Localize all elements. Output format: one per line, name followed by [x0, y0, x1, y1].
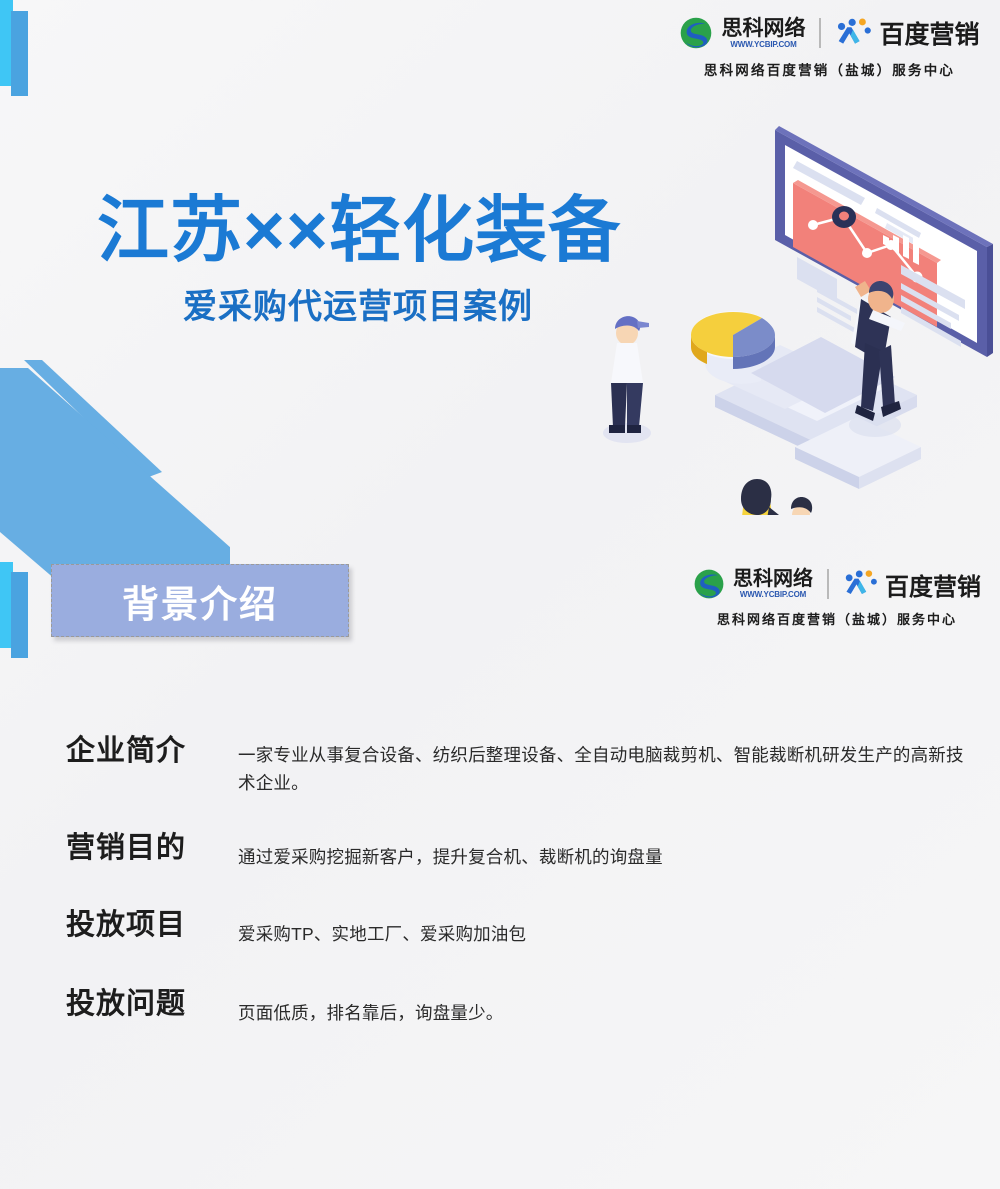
decor-bar-blue-top [11, 11, 28, 96]
baidu-brand-name: 百度营销 [885, 567, 981, 602]
seated-man-blue-figure [789, 497, 831, 515]
sike-brand-url: WWW.YCBIP.COM [733, 591, 813, 599]
info-row-text: 一家专业从事复合设备、纺织后整理设备、全自动电脑裁剪机、智能裁断机研发生产的高新… [238, 735, 981, 798]
isometric-data-dashboard-illustration [565, 95, 1000, 515]
section-header-label: 背景介绍 [122, 574, 278, 628]
sike-brand-name: 思科网络 [721, 18, 805, 39]
seated-woman-yellow-figure [737, 479, 779, 515]
baidu-paw-icon [843, 570, 877, 598]
baidu-brand-name: 百度营销 [879, 15, 979, 51]
info-row-label: 企业简介 [66, 735, 238, 767]
page-title: 江苏××轻化装备 [97, 195, 621, 267]
mid-logo-row: 思科网络 WWW.YCBIP.COM 百度营销 [682, 562, 992, 606]
sike-globe-s-icon [679, 16, 713, 50]
header-logo-subtitle: 思科网络百度营销（盐城）服务中心 [667, 59, 992, 79]
header-logo-block: 思科网络 WWW.YCBIP.COM 百度营销 思科网络百度营销（盐城）服务中心 [667, 10, 992, 79]
info-row: 营销目的 通过爱采购挖掘新客户，提升复合机、裁断机的询盘量 [66, 832, 981, 871]
standing-person-cap-figure [603, 316, 651, 443]
mid-logo-subtitle: 思科网络百度营销（盐城）服务中心 [682, 609, 992, 628]
sike-wordmark: 思科网络 WWW.YCBIP.COM [721, 18, 805, 49]
info-row: 企业简介 一家专业从事复合设备、纺织后整理设备、全自动电脑裁剪机、智能裁断机研发… [66, 735, 981, 798]
info-row-text: 通过爱采购挖掘新客户，提升复合机、裁断机的询盘量 [238, 832, 663, 871]
page-subtitle: 爱采购代运营项目案例 [183, 290, 533, 324]
info-row-label: 投放项目 [66, 909, 238, 941]
info-row-text: 爱采购TP、实地工厂、爱采购加油包 [238, 909, 526, 948]
info-row-label: 投放问题 [66, 988, 238, 1020]
info-rows-list: 企业简介 一家专业从事复合设备、纺织后整理设备、全自动电脑裁剪机、智能裁断机研发… [66, 735, 981, 1062]
logo-divider-icon [819, 18, 821, 48]
sike-brand-url: WWW.YCBIP.COM [721, 41, 805, 49]
poster-page: 思科网络 WWW.YCBIP.COM 百度营销 思科网络百度营销（盐城）服务中心… [0, 0, 1000, 1189]
header-logo-row: 思科网络 WWW.YCBIP.COM 百度营销 [667, 10, 992, 56]
logo-divider-icon [827, 569, 829, 599]
sike-brand-name: 思科网络 [733, 569, 813, 589]
section-header-background: 背景介绍 [51, 564, 349, 637]
mid-logo-block: 思科网络 WWW.YCBIP.COM 百度营销 思科网络百度营销（盐城）服务中心 [682, 562, 992, 628]
baidu-paw-icon [835, 18, 871, 48]
info-row-label: 营销目的 [66, 832, 238, 864]
info-row: 投放项目 爱采购TP、实地工厂、爱采购加油包 [66, 909, 981, 948]
info-row-text: 页面低质，排名靠后，询盘量少。 [238, 988, 504, 1027]
info-row: 投放问题 页面低质，排名靠后，询盘量少。 [66, 988, 981, 1027]
sike-wordmark: 思科网络 WWW.YCBIP.COM [733, 569, 813, 599]
sike-globe-s-icon [693, 568, 725, 600]
